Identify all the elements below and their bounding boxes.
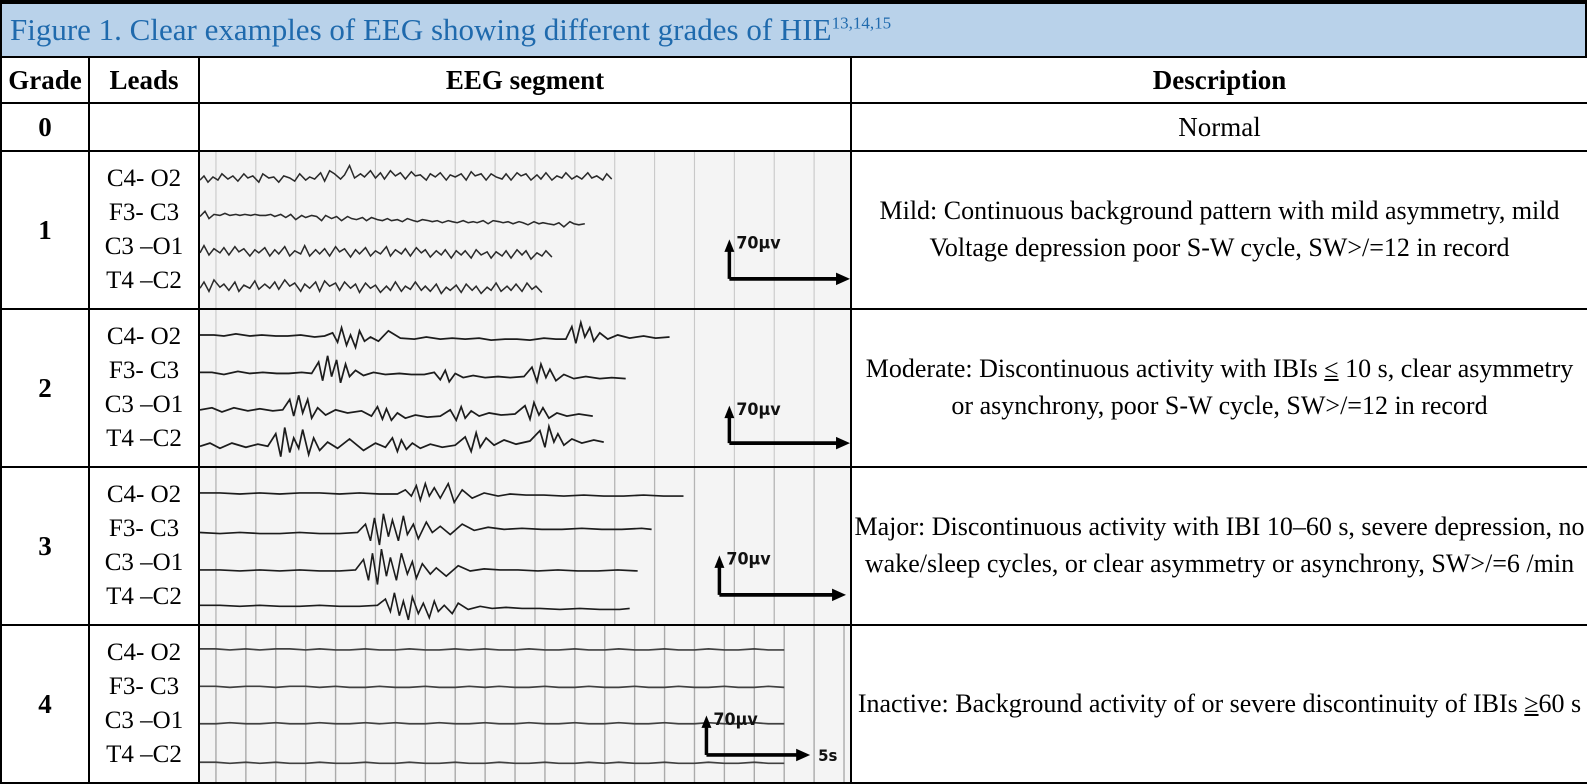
eeg-segment-grade-3: 70µv [199,467,851,625]
grade-value: 4 [1,625,89,783]
eeg-grid [216,468,814,624]
table-row: 4 C4- O2 F3- C3 C3 –O1 T4 –C2 [1,625,1587,783]
eeg-traces [200,322,670,456]
lead-label: T4 –C2 [90,264,198,298]
table-row: 3 C4- O2 F3- C3 C3 –O1 T4 –C2 [1,467,1587,625]
eeg-trace-panel: 70µv [200,468,850,624]
leads-list: C4- O2 F3- C3 C3 –O1 T4 –C2 [89,309,199,467]
lead-label: F3- C3 [90,512,198,546]
grade-value: 0 [1,103,89,151]
scale-time-label: 5s [818,747,837,765]
description-text: Mild: Continuous background pattern with… [851,151,1587,309]
lead-label: T4 –C2 [90,738,198,772]
eeg-traces [200,484,684,620]
hie-grading-table: Grade Leads EEG segment Description 0 No… [0,56,1587,784]
eeg-traces [200,166,612,294]
table-row: 0 Normal [1,103,1587,151]
lead-label: F3- C3 [90,196,198,230]
lead-label: T4 –C2 [90,580,198,614]
leads-list [89,103,199,151]
description-text: Moderate: Discontinuous activity with IB… [851,309,1587,467]
eeg-segment-grade-1: 70µv [199,151,851,309]
grade-value: 2 [1,309,89,467]
scale-voltage-label: 70µv [736,233,781,252]
lead-label: C3 –O1 [90,230,198,264]
lead-label: C3 –O1 [90,546,198,580]
description-underlined: ≥ [1524,689,1538,718]
scale-voltage-label: 70µv [726,549,771,568]
eeg-trace-panel: 70µv 5s [200,626,850,782]
lead-label: C4- O2 [90,162,198,196]
leads-list: C4- O2 F3- C3 C3 –O1 T4 –C2 [89,467,199,625]
eeg-trace-panel: 70µv [200,310,850,466]
eeg-segment-grade-2: 70µv [199,309,851,467]
figure-title-references: 13,14,15 [832,14,892,33]
lead-label: C4- O2 [90,636,198,670]
column-header-description: Description [851,57,1587,103]
lead-label: C3 –O1 [90,388,198,422]
description-pre: Moderate: Discontinuous activity with IB… [866,354,1325,383]
scale-voltage-label: 70µv [736,400,781,419]
column-header-grade: Grade [1,57,89,103]
eeg-traces [200,649,784,763]
description-pre: Inactive: Background activity of or seve… [858,689,1524,718]
lead-label: C4- O2 [90,478,198,512]
grade-value: 1 [1,151,89,309]
description-text: Major: Discontinuous activity with IBI 1… [851,467,1587,625]
lead-label: C3 –O1 [90,704,198,738]
figure-title-text: Figure 1. Clear examples of EEG showing … [10,12,832,47]
eeg-waveform-svg: 70µv [200,468,850,624]
eeg-trace-panel: 70µv [200,152,850,308]
eeg-segment-grade-4: 70µv 5s [199,625,851,783]
eeg-waveform-svg: 70µv [200,310,850,466]
column-header-leads: Leads [89,57,199,103]
table-body: 0 Normal 1 C4- O2 F3- C3 C3 –O1 T4 –C2 [1,103,1587,783]
eeg-waveform-svg: 70µv 5s [200,626,850,782]
description-post: 60 s [1539,689,1582,718]
leads-list: C4- O2 F3- C3 C3 –O1 T4 –C2 [89,151,199,309]
description-underlined: ≤ [1324,354,1338,383]
column-header-eeg-segment: EEG segment [199,57,851,103]
lead-label: C4- O2 [90,320,198,354]
table-row: 1 C4- O2 F3- C3 C3 –O1 T4 –C2 [1,151,1587,309]
table-row: 2 C4- O2 F3- C3 C3 –O1 T4 –C2 [1,309,1587,467]
lead-label: T4 –C2 [90,422,198,456]
table-header-row: Grade Leads EEG segment Description [1,57,1587,103]
lead-label: F3- C3 [90,354,198,388]
eeg-waveform-svg: 70µv [200,152,850,308]
figure-title: Figure 1. Clear examples of EEG showing … [0,0,1587,56]
scale-voltage-label: 70µv [713,709,758,728]
description-text: Inactive: Background activity of or seve… [851,625,1587,783]
lead-label: F3- C3 [90,670,198,704]
description-text: Normal [851,103,1587,151]
eeg-segment-empty [199,103,851,151]
figure-container: Figure 1. Clear examples of EEG showing … [0,0,1587,780]
leads-list: C4- O2 F3- C3 C3 –O1 T4 –C2 [89,625,199,783]
grade-value: 3 [1,467,89,625]
